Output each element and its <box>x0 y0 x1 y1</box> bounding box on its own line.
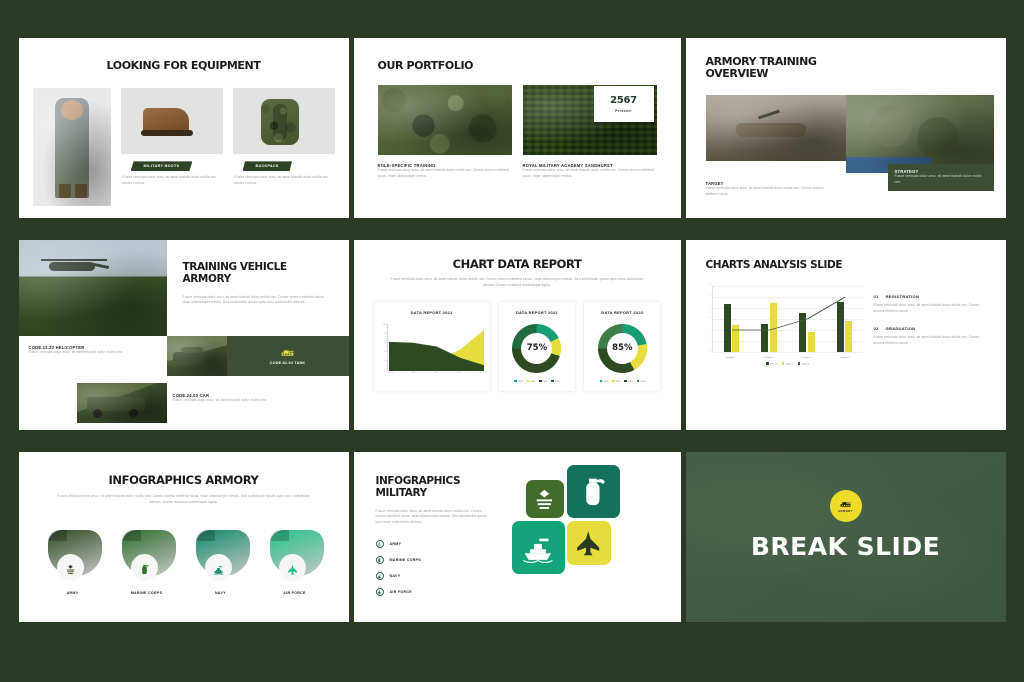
branch-item-army[interactable]: ARMY <box>43 530 103 595</box>
page-title: BREAK SLIDE <box>686 532 1006 561</box>
branch-list-item-air-force[interactable]: AIR FORCE <box>376 588 494 596</box>
point-number: 02 <box>874 326 879 331</box>
legend-item: 2021 <box>600 380 608 383</box>
donut-center-value: 85% <box>607 333 638 364</box>
y-tick: 2 <box>709 328 710 330</box>
branch-tile[interactable] <box>526 480 564 518</box>
branch-bullet-icon <box>376 556 384 564</box>
branch-bullet-list: ARMYMARINE CORPSNAVYAIR FORCE <box>376 540 494 596</box>
target-description: Fusce vehicula dolor arcu, sit amet blan… <box>706 186 834 198</box>
x-axis-ticks: 20172018201920202021 <box>389 372 484 379</box>
branch-shape <box>118 530 176 584</box>
legend-item: Series 1 <box>766 362 777 365</box>
helicopter-photo <box>19 240 167 336</box>
slide-infographics-military[interactable]: INFOGRAPHICS MILITARY Fusce vehicula dol… <box>354 452 681 622</box>
branch-tiles <box>504 452 681 622</box>
branch-label: AIR FORCE <box>283 591 305 595</box>
slide-chart-data-report[interactable]: CHART DATA REPORT Fusce vehicula dolor a… <box>354 240 681 430</box>
branch-list-item-navy[interactable]: NAVY <box>376 572 494 580</box>
strategy-description: Fusce vehicula dolor arcu, sit amet blan… <box>895 174 987 186</box>
fighter-jet-icon <box>287 564 298 575</box>
branch-tile[interactable] <box>512 521 565 574</box>
branch-bullet-icon <box>376 540 384 548</box>
page-title: CHARTS ANALYSIS SLIDE <box>706 260 846 272</box>
slide-charts-analysis[interactable]: CHARTS ANALYSIS SLIDE 6543210 Category 1… <box>686 240 1006 430</box>
tank-icon <box>840 500 851 508</box>
page-title: CHART DATA REPORT <box>354 258 681 271</box>
boots-tag: MILITARY BOOTS <box>131 161 193 171</box>
y-tick: 6 <box>709 284 710 286</box>
warship-icon <box>522 532 554 564</box>
legend-item: 2022 <box>527 380 535 383</box>
backpack-tag: BACKPACK <box>243 161 293 171</box>
personnel-label: Personel <box>615 109 632 113</box>
point-number: 01 <box>874 294 879 299</box>
slide-training-vehicle-armory[interactable]: TRAINING VEHICLE ARMORY Fusce vehicula d… <box>19 240 349 430</box>
legend-item: Series 3 <box>798 362 809 365</box>
slide-infographics-armory[interactable]: INFOGRAPHICS ARMORY Fusce vehicula dolor… <box>19 452 349 622</box>
chart-card-donut-2022[interactable]: DATA REPORT 2022 75% 2021202220232024 <box>499 302 575 391</box>
branch-icon-circle <box>57 554 84 581</box>
caption-description: Fusce vehicula dolor arcu, sit amet blan… <box>523 168 657 180</box>
branch-label: NAVY <box>390 574 401 578</box>
backpack-photo <box>233 88 335 154</box>
legend-item: Series 2 <box>782 362 793 365</box>
branch-list: ARMYMARINE CORPSNAVYAIR FORCE <box>19 530 349 595</box>
target-practice-photo <box>706 95 848 161</box>
x-tick: Category 1 <box>726 357 736 359</box>
y-tick: 4 <box>709 306 710 308</box>
point-label: GRADUATION <box>886 326 916 331</box>
slide-thumbnail-grid: LOOKING FOR EQUIPMENT MILITARY BOOTS Fus… <box>0 0 1024 682</box>
chart-title: DATA REPORT 2021 <box>380 310 484 315</box>
x-tick: 2020 <box>457 372 461 379</box>
chart-title: DATA REPORT 2023 <box>590 310 654 315</box>
code-description: Fusce vehicula dolor arcu, sit amet blan… <box>173 398 341 404</box>
rank-insignia-icon <box>377 542 382 547</box>
combo-chart: 6543210 Category 1Category 2Category 3Ca… <box>702 284 866 366</box>
backpack-description: Fusce vehicula dolor arcu, sit amet blan… <box>233 175 335 187</box>
y-tick: 3 <box>709 317 710 319</box>
branch-icon-circle <box>205 554 232 581</box>
x-tick: Category 3 <box>802 357 812 359</box>
page-title: LOOKING FOR EQUIPMENT <box>19 60 349 72</box>
branch-bullet-icon <box>376 588 384 596</box>
branch-bullet-icon <box>376 572 384 580</box>
area-chart-svg <box>389 324 484 371</box>
y-tick: 5 <box>709 295 710 297</box>
slide-armory-training-overview[interactable]: ARMORY TRAINING OVERVIEW STRATEGY Fusce … <box>686 38 1006 218</box>
branch-shape <box>266 530 324 584</box>
branch-item-marine-corps[interactable]: MARINE CORPS <box>117 530 177 595</box>
page-title: TRAINING VEHICLE ARMORY <box>183 262 333 286</box>
y-axis-ticks: 100806040200 <box>380 324 387 371</box>
slide-subtitle: Fusce vehicula dolor arcu, sit amet blan… <box>19 494 349 506</box>
soldier-photo <box>33 88 111 206</box>
y-tick: 1 <box>709 339 710 341</box>
branch-shape <box>192 530 250 584</box>
legend-item: 2023 <box>539 380 547 383</box>
branch-item-air-force[interactable]: AIR FORCE <box>265 530 325 595</box>
x-tick: 2017 <box>389 372 393 379</box>
donut-chart: 85% <box>598 324 647 373</box>
branch-icon-circle <box>279 554 306 581</box>
personnel-count: 2567 <box>610 95 637 106</box>
branch-list-item-army[interactable]: ARMY <box>376 540 494 548</box>
boots-photo <box>121 88 223 154</box>
legend-item: 2024 <box>637 380 645 383</box>
page-title: INFOGRAPHICS ARMORY <box>19 474 349 487</box>
branch-tile[interactable] <box>567 465 620 518</box>
branch-tile[interactable] <box>567 521 611 565</box>
branch-label: MARINE CORPS <box>131 591 163 595</box>
logo-text: ARMORY <box>838 509 853 513</box>
code-description: Fusce vehicula dolor arcu, sit amet blan… <box>29 350 159 356</box>
y-axis-ticks: 6543210 <box>702 284 711 352</box>
chart-legend: 2021202220232024 <box>505 380 569 383</box>
tank-code-card: CODE.81.04 TANK <box>227 336 349 376</box>
x-tick: 2019 <box>434 372 438 379</box>
boots-description: Fusce vehicula dolor arcu, sit amet blan… <box>121 175 223 187</box>
target-callout: TARGET Fusce vehicula dolor arcu, sit am… <box>706 181 834 198</box>
y-axis-line <box>387 324 388 371</box>
branch-icon-circle <box>131 554 158 581</box>
chart-title: DATA REPORT 2022 <box>505 310 569 315</box>
car-photo <box>77 383 167 423</box>
legend-item: 2023 <box>624 380 632 383</box>
chart-line-series <box>713 286 864 352</box>
caption-description: Fusce vehicula dolor arcu, sit amet blan… <box>378 168 512 180</box>
branch-label: MARINE CORPS <box>390 558 422 562</box>
point-description: Fusce vehicula dolor arcu, sit amet blan… <box>874 335 992 347</box>
branch-label: ARMY <box>390 542 402 546</box>
slide-subtitle: Fusce vehicula dolor arcu, sit amet blan… <box>354 277 681 289</box>
chart-card-area[interactable]: DATA REPORT 2021 100806040200 2017201820… <box>374 302 490 391</box>
legend-item: 2022 <box>612 380 620 383</box>
slide-looking-for-equipment[interactable]: LOOKING FOR EQUIPMENT MILITARY BOOTS Fus… <box>19 38 349 218</box>
warship-icon <box>377 574 382 579</box>
armory-logo-badge: ARMORY <box>830 490 862 522</box>
page-title: OUR PORTFOLIO <box>378 60 681 72</box>
rank-insignia-icon <box>533 488 556 511</box>
warship-icon <box>213 564 224 575</box>
briefing-photo <box>846 95 994 173</box>
fighter-jet-icon <box>377 590 382 595</box>
x-axis-ticks: Category 1Category 2Category 3Category 4 <box>712 357 864 359</box>
grenade-icon <box>577 476 609 508</box>
legend-item: 2021 <box>514 380 522 383</box>
donut-chart: 75% <box>512 324 561 373</box>
donut-center-value: 75% <box>521 333 552 364</box>
branch-label: ARMY <box>67 591 79 595</box>
personnel-stat-card: 2567 Personel <box>594 86 654 122</box>
page-title: ARMORY TRAINING OVERVIEW <box>706 56 856 81</box>
chart-legend: 2021202220232024 <box>590 380 654 383</box>
branch-label: AIR FORCE <box>390 590 412 594</box>
x-tick: Category 2 <box>764 357 774 359</box>
tank-icon <box>281 348 294 357</box>
rank-insignia-icon <box>65 564 76 575</box>
legend-item: 2024 <box>551 380 559 383</box>
grenade-icon <box>377 558 382 563</box>
role-specific-training-photo <box>378 85 512 155</box>
page-title: INFOGRAPHICS MILITARY <box>376 476 494 500</box>
x-tick: 2021 <box>480 372 484 379</box>
branch-item-navy[interactable]: NAVY <box>191 530 251 595</box>
x-tick: Category 4 <box>840 357 850 359</box>
analysis-point: 01 REGISTRATION Fusce vehicula dolor arc… <box>874 294 992 315</box>
analysis-point: 02 GRADUATION Fusce vehicula dolor arcu,… <box>874 326 992 347</box>
slide-description: Fusce vehicula dolor arcu, sit amet blan… <box>376 509 494 527</box>
strategy-callout: STRATEGY Fusce vehicula dolor arcu, sit … <box>888 164 994 191</box>
grenade-icon <box>139 564 150 575</box>
fighter-jet-icon <box>575 530 601 556</box>
slide-our-portfolio[interactable]: OUR PORTFOLIO 2567 Personel ROLE-SPECIFI… <box>354 38 681 218</box>
area-chart: 100806040200 20172018201920202021 <box>380 324 484 379</box>
branch-label: NAVY <box>215 591 226 595</box>
point-description: Fusce vehicula dolor arcu, sit amet blan… <box>874 303 992 315</box>
slide-break[interactable]: ARMORY BREAK SLIDE <box>686 452 1006 622</box>
chart-legend: Series 1Series 2Series 3 <box>712 362 864 365</box>
y-tick: 0 <box>709 350 710 352</box>
branch-list-item-marine-corps[interactable]: MARINE CORPS <box>376 556 494 564</box>
branch-shape <box>44 530 102 584</box>
chart-card-donut-2023[interactable]: DATA REPORT 2023 85% 2021202220232024 <box>584 302 660 391</box>
point-label: REGISTRATION <box>886 294 920 299</box>
tank-photo <box>167 336 227 376</box>
code-title: CODE.81.04 TANK <box>270 361 306 365</box>
slide-description: Fusce vehicula dolor arcu, sit amet blan… <box>183 295 333 307</box>
x-tick: 2018 <box>411 372 415 379</box>
